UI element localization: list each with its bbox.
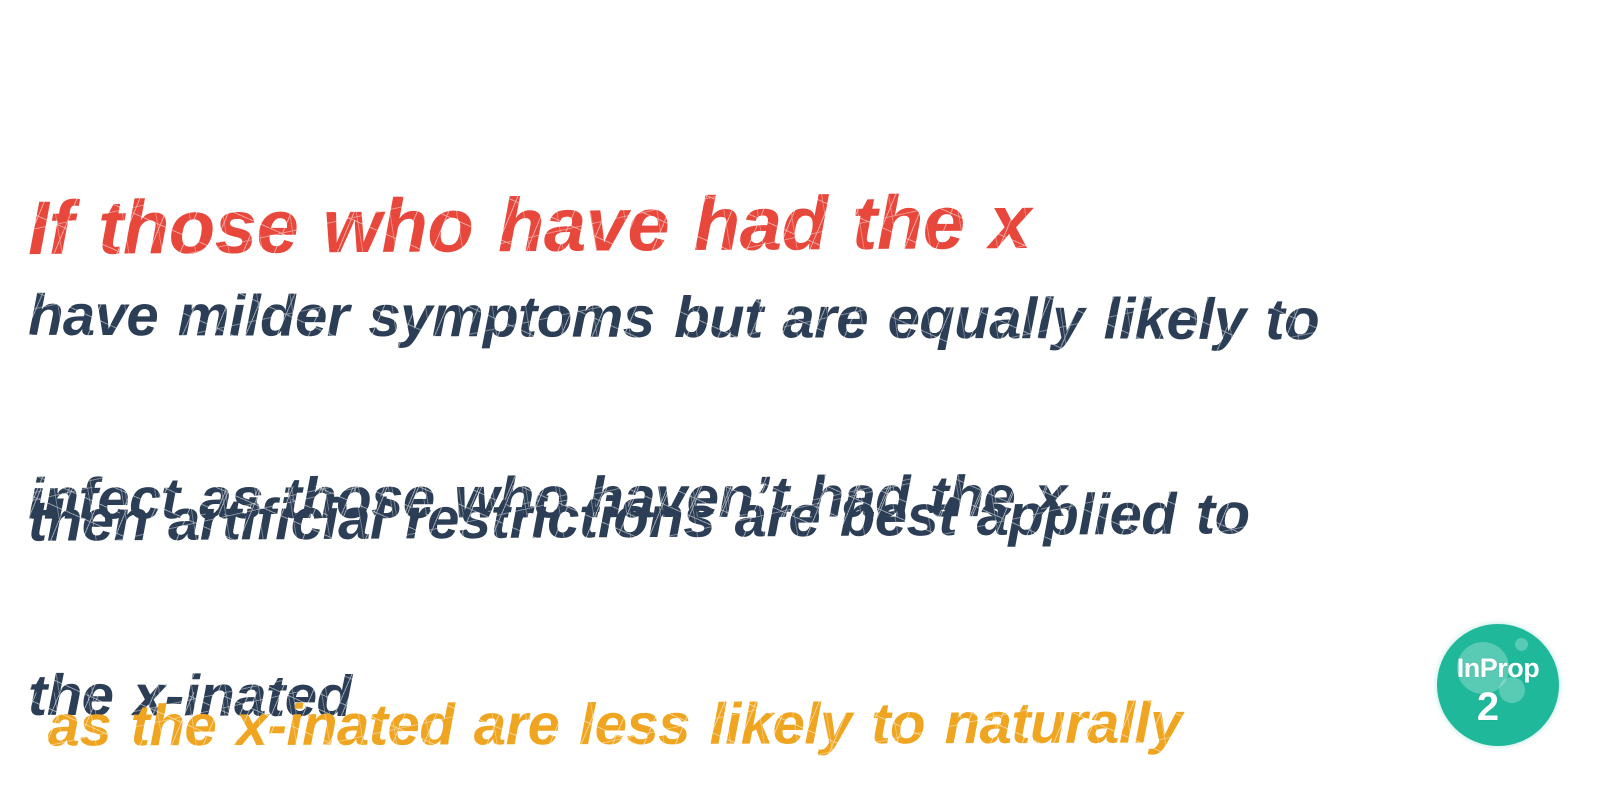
logo-number: 2 bbox=[1437, 686, 1559, 728]
logo-bubble-small-icon bbox=[1515, 638, 1528, 651]
claim-paragraph-line-1: have milder symptoms but are equally lik… bbox=[28, 286, 1319, 351]
reason-paragraph-line-1: as the x-inated are less likely to natur… bbox=[28, 693, 1182, 756]
poster-canvas: If those who have had the x have milder … bbox=[0, 0, 1600, 800]
logo-wordmark: InProp bbox=[1437, 654, 1559, 682]
reason-paragraph: as the x-inated are less likely to natur… bbox=[28, 575, 1182, 800]
inprop2-logo-badge[interactable]: InProp 2 bbox=[1437, 624, 1559, 746]
conclusion-paragraph-line-1: then artificial restrictions are best ap… bbox=[28, 484, 1250, 551]
